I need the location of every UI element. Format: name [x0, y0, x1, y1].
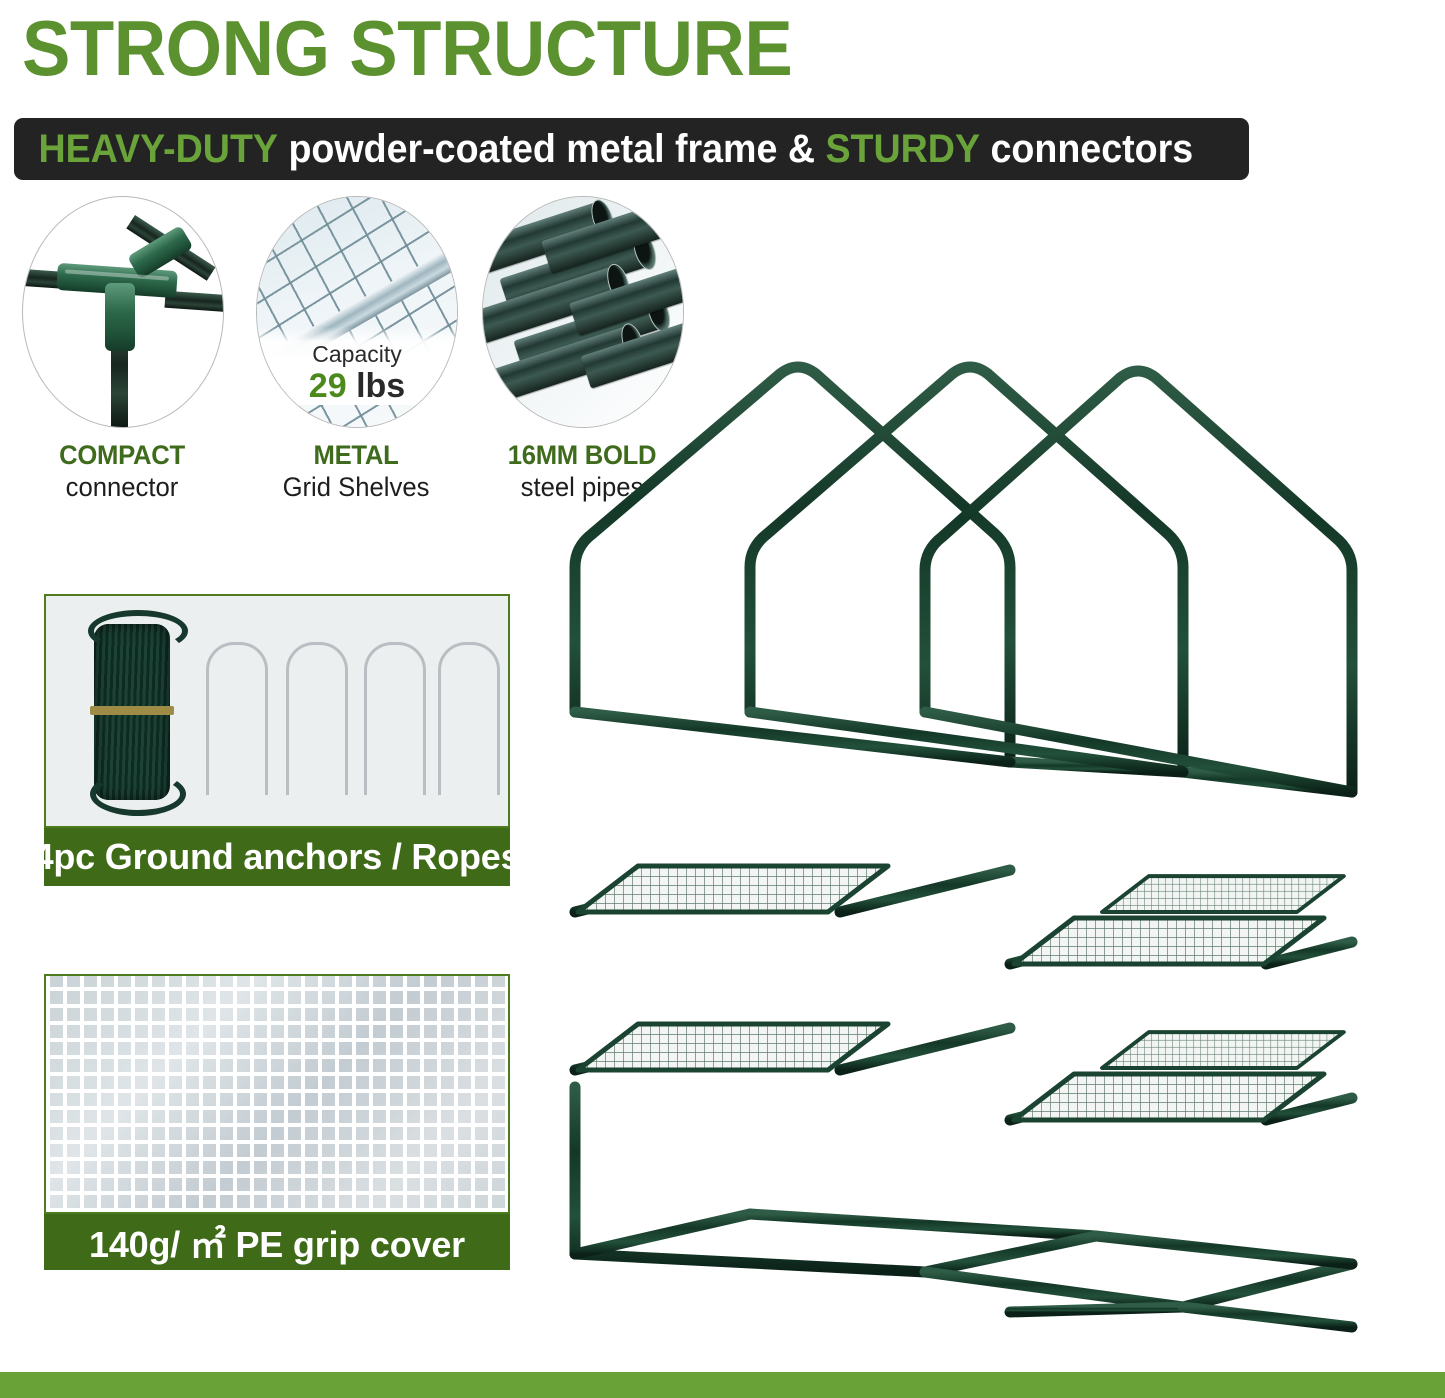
feature-subtitle: Grid Shelves — [261, 471, 451, 503]
feature-title: METAL — [261, 440, 451, 471]
subtitle-highlight-sturdy: STURDY — [825, 127, 980, 171]
feature-caption: METAL Grid Shelves — [256, 440, 456, 503]
feature-caption: COMPACT connector — [22, 440, 222, 503]
subtitle-end-text: connectors — [990, 127, 1193, 171]
capacity-unit: lbs — [356, 367, 405, 405]
ground-anchors-ropes-icon — [44, 594, 510, 828]
subtitle-highlight-heavy-duty: HEAVY-DUTY — [38, 127, 278, 171]
capacity-label: Capacity — [257, 341, 457, 367]
footer-accent-bar — [0, 1372, 1445, 1398]
grid-shelf-icon: Capacity 29 lbs — [256, 196, 458, 428]
card-label: 4pc Ground anchors / Ropes — [44, 828, 510, 886]
subtitle-mid-text: powder-coated metal frame & — [288, 127, 815, 171]
card-label: 140g/ ㎡ PE grip cover — [44, 1214, 510, 1270]
greenhouse-frame-image — [540, 352, 1445, 1372]
page-title: STRONG STRUCTURE — [22, 2, 1138, 94]
pipe-connector-icon — [22, 196, 224, 428]
capacity-value: 29 — [309, 367, 347, 405]
card-pe-grip-cover: 140g/ ㎡ PE grip cover — [44, 974, 510, 1270]
capacity-overlay: Capacity 29 lbs — [257, 327, 457, 405]
feature-subtitle: connector — [27, 471, 217, 503]
feature-compact-connector: COMPACT connector — [22, 196, 222, 503]
card-ground-anchors-ropes: 4pc Ground anchors / Ropes — [44, 594, 510, 886]
subtitle-banner: HEAVY-DUTY powder-coated metal frame & S… — [14, 118, 1249, 180]
subtitle-banner-text: HEAVY-DUTY powder-coated metal frame & S… — [14, 126, 1193, 172]
feature-title: COMPACT — [27, 440, 217, 471]
feature-metal-grid-shelves: Capacity 29 lbs METAL Grid Shelves — [256, 196, 456, 503]
pe-cover-mesh-icon — [44, 974, 510, 1214]
